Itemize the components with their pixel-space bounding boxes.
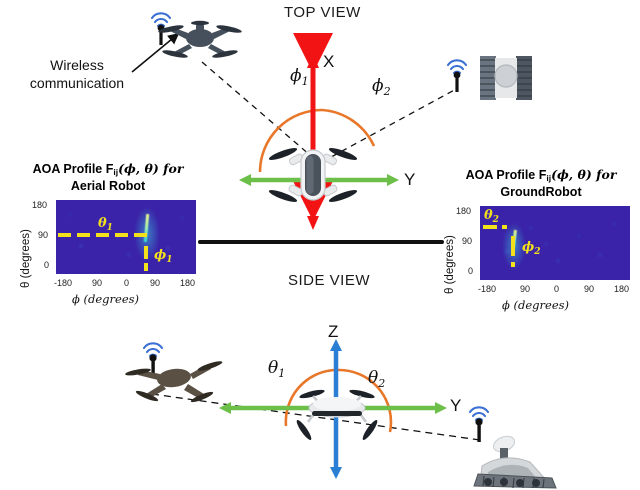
aoa-ground-xtick-180: 180 [614, 284, 629, 294]
aoa-aerial-title: AOA Profile Fij(ϕ, θ) for Aerial Robot [8, 162, 208, 193]
aerial-robot-bottom-left-icon [118, 334, 238, 422]
wifi-signal-icon [470, 407, 488, 420]
aoa-aerial-xtick-m90: 90 [92, 278, 102, 288]
aoa-ground-theta-marker: θ2 [484, 208, 499, 225]
aoa-aerial-title-args: (ϕ, θ) for [118, 161, 183, 176]
aoa-ground-ytick-0: 0 [468, 266, 473, 276]
aoa-aerial-ytick-90: 90 [38, 230, 48, 240]
view-divider-line [198, 240, 444, 244]
top-view-y-label: Y [404, 170, 415, 190]
aoa-aerial-title-line2: Aerial Robot [8, 179, 208, 193]
aoa-ground-xtick-m90: 90 [520, 284, 530, 294]
phi2-label-topview: ϕ2 [372, 76, 391, 98]
aoa-aerial-ytick-0: 0 [44, 260, 49, 270]
wireless-communication-label: Wireless communication [12, 56, 142, 92]
wifi-signal-icon [152, 13, 170, 26]
aoa-ground-xtick-0: 0 [554, 284, 559, 294]
aoa-ground-heatmap: θ2 ϕ2 [480, 206, 630, 280]
aoa-aerial-xlabel: ϕ (degrees) [72, 292, 139, 306]
theta1-glyph: θ [268, 358, 278, 378]
wifi-signal-icon [144, 343, 162, 356]
aoa-ground-ylabel: θ (degrees) [444, 235, 456, 294]
aoa-aerial-plot: θ (degrees) 180 90 0 θ1 ϕ1 - [8, 196, 208, 310]
aoa-ground-plot: θ (degrees) 180 90 0 θ2 ϕ2 -180 90 0 90 … [442, 202, 640, 316]
top-view-title: TOP VIEW [284, 4, 361, 21]
aoa-ground-title-prefix: AOA Profile F [466, 168, 547, 182]
aoa-aerial-theta-marker: θ1 [98, 216, 113, 233]
aoa-aerial-title-prefix: AOA Profile F [33, 162, 114, 176]
aerial-robot-center-side-icon [282, 378, 392, 448]
aoa-aerial-phi-marker: ϕ1 [154, 248, 173, 265]
aoa-aerial-ytick-180: 180 [32, 200, 47, 210]
aoa-ground-xlabel: ϕ (degrees) [502, 298, 569, 312]
aoa-aerial-xtick-90: 90 [150, 278, 160, 288]
ground-robot-bottom-right-icon [452, 392, 582, 488]
aoa-aerial-xtick-180: 180 [180, 278, 195, 288]
wireless-label-line2: communication [12, 74, 142, 92]
aoa-ground-title-args: (ϕ, θ) for [551, 167, 616, 182]
top-view-x-label: X [323, 52, 334, 72]
phi2-glyph: ϕ [372, 76, 384, 96]
aoa-ground-xtick-m180: -180 [478, 284, 496, 294]
aoa-panel-ground: AOA Profile Fij(ϕ, θ) for GroundRobot θ … [442, 168, 640, 316]
wireless-label-line1: Wireless [12, 56, 142, 74]
aoa-ground-phi-marker: ϕ2 [522, 240, 541, 257]
aoa-ground-ytick-90: 90 [462, 236, 472, 246]
aoa-ground-ytick-180: 180 [456, 206, 471, 216]
aoa-aerial-heatmap: θ1 ϕ1 [56, 200, 196, 274]
side-view-title: SIDE VIEW [288, 272, 370, 289]
aoa-ground-xtick-90: 90 [584, 284, 594, 294]
phi2-subscript: 2 [384, 85, 391, 98]
aoa-ground-title: AOA Profile Fij(ϕ, θ) for GroundRobot [442, 168, 640, 199]
theta1-label-sideview: θ1 [268, 358, 285, 380]
aoa-aerial-xtick-0: 0 [124, 278, 129, 288]
aerial-robot-center-top-icon [265, 132, 361, 218]
aoa-ground-title-line2: GroundRobot [442, 185, 640, 199]
aoa-panel-aerial: AOA Profile Fij(ϕ, θ) for Aerial Robot θ… [8, 162, 208, 310]
aoa-aerial-ylabel: θ (degrees) [20, 229, 32, 288]
aoa-aerial-xtick-m180: -180 [54, 278, 72, 288]
